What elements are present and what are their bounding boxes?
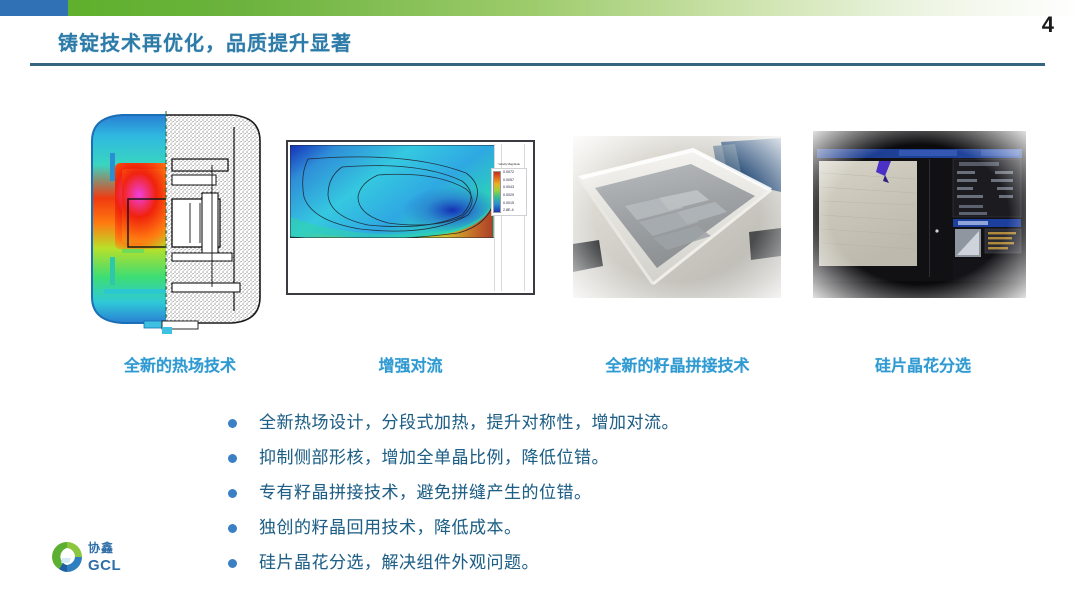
list-item-label: 硅片晶花分选，解决组件外观问题。: [259, 552, 539, 574]
cfd-legend-value: 0.0029: [503, 194, 525, 198]
figure-wafer-crystal-sorting: [813, 131, 1026, 298]
logo-wordmark: 协鑫 GCL: [88, 539, 121, 574]
logo-text-cn: 协鑫: [88, 539, 121, 556]
bullet-dot-icon: [228, 559, 237, 568]
cfd-legend-value: 0.0057: [503, 179, 525, 183]
cfd-colorbar-legend: 0.0072 0.0057 0.0043 0.0029 0.0015 2.8E-…: [491, 168, 527, 216]
list-item: 硅片晶花分选，解决组件外观问题。: [228, 552, 848, 587]
title-divider: [30, 63, 1045, 66]
list-item-label: 独创的籽晶回用技术，降低成本。: [259, 517, 522, 539]
list-item: 全新热场设计，分段式加热，提升对称性，增加对流。: [228, 412, 848, 447]
list-item-label: 专有籽晶拼接技术，避免拼缝产生的位错。: [259, 482, 592, 504]
page-number: 4: [1042, 12, 1054, 38]
list-item: 独创的籽晶回用技术，降低成本。: [228, 517, 848, 552]
top-bar-blue-block: [0, 0, 68, 16]
company-logo: 协鑫 GCL: [50, 537, 136, 585]
cfd-legend-value: 0.0072: [503, 171, 525, 175]
page-title: 铸锭技术再优化，品质提升显著: [58, 27, 352, 56]
list-item-label: 全新热场设计，分段式加热，提升对称性，增加对流。: [259, 412, 679, 434]
list-item-label: 抑制侧部形核，增加全单晶比例，降低位错。: [259, 447, 609, 469]
bullet-dot-icon: [228, 454, 237, 463]
cfd-legend-value: 0.0043: [503, 186, 525, 190]
bullet-dot-icon: [228, 419, 237, 428]
bullet-list: 全新热场设计，分段式加热，提升对称性，增加对流。 抑制侧部形核，增加全单晶比例，…: [228, 412, 848, 587]
top-bar-green-gradient: [68, 0, 1080, 16]
cfd-colorbar-labels: 0.0072 0.0057 0.0043 0.0029 0.0015 2.8E-…: [501, 171, 525, 213]
figure-thermal-field-furnace: [82, 107, 278, 335]
figure-cfd-convection: Velocity Magnitude 0.0072 0.0057 0.0043 …: [286, 140, 535, 295]
top-accent-bar: [0, 0, 1080, 16]
list-item: 专有籽晶拼接技术，避免拼缝产生的位错。: [228, 482, 848, 517]
cfd-legend-value: 2.8E-4: [503, 209, 525, 213]
bullet-dot-icon: [228, 489, 237, 498]
figure-caption-convection: 增强对流: [286, 352, 535, 376]
figure-caption-thermal-field: 全新的热场技术: [82, 352, 278, 376]
figure-seed-crystal-crucible: [573, 136, 781, 298]
cfd-colorbar: [493, 171, 501, 213]
cfd-legend-value: 0.0015: [503, 202, 525, 206]
list-item: 抑制侧部形核，增加全单晶比例，降低位错。: [228, 447, 848, 482]
bullet-dot-icon: [228, 524, 237, 533]
gcl-emblem-icon: [50, 540, 84, 574]
cfd-legend-title: Velocity Magnitude: [491, 162, 527, 166]
figure-caption-wafer-sorting: 硅片晶花分选: [820, 352, 1026, 376]
logo-text-en: GCL: [88, 557, 121, 574]
figure-caption-seed-splicing: 全新的籽晶拼接技术: [560, 352, 795, 376]
